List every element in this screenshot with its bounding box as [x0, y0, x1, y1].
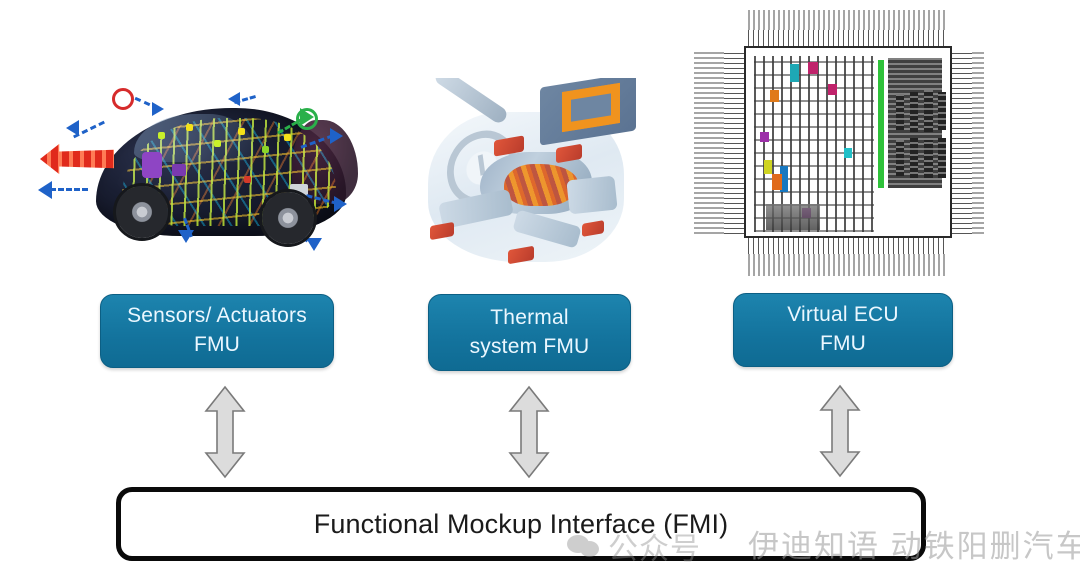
- blue-arrow-head: [306, 238, 322, 251]
- ecu-pin-block: [938, 92, 946, 130]
- car-front-wheel: [116, 186, 168, 238]
- ecu-accent-block: [790, 64, 799, 82]
- connector-arrow-ecu: [818, 384, 862, 478]
- ecu-accent-block: [770, 90, 779, 102]
- diagram-canvas: Sensors/ Actuators FMU Thermal system FM…: [0, 0, 1080, 585]
- green-arrow-head: [300, 108, 314, 126]
- pin-row-bottom: [748, 238, 948, 254]
- ecu-accent-block: [760, 132, 769, 142]
- connector-arrow-sensors: [203, 385, 247, 479]
- fmu-block-label-line1: Thermal: [490, 304, 568, 333]
- fmu-block-label-line2: FMU: [820, 330, 866, 359]
- ecu-accent-block: [772, 174, 782, 190]
- sensor-node: [158, 132, 165, 139]
- ecu-accent-block: [844, 148, 852, 158]
- pin-labels-left: [694, 52, 724, 234]
- blue-arrow-head: [152, 102, 164, 116]
- pin-labels-bottom: [748, 254, 948, 276]
- ecu-pin-block: [896, 94, 904, 130]
- ecu-bottom-module: [766, 204, 820, 230]
- ecu-green-bus: [878, 60, 884, 188]
- ecu-module-node: [172, 164, 186, 176]
- fmi-interface-label: Functional Mockup Interface (FMI): [314, 509, 728, 540]
- pin-labels-top: [748, 10, 948, 30]
- fmu-block-label-line1: Sensors/ Actuators: [127, 302, 307, 331]
- ecu-pin-block: [896, 140, 904, 176]
- blue-arrow-head: [38, 181, 52, 199]
- ecu-pin-block: [910, 92, 918, 132]
- ecu-pinout-illustration: [692, 6, 984, 278]
- ecu-accent-block: [808, 62, 818, 74]
- fmu-block-sensors-actuators[interactable]: Sensors/ Actuators FMU: [100, 294, 334, 368]
- sensor-node: [262, 146, 269, 153]
- fmu-block-virtual-ecu[interactable]: Virtual ECU FMU: [733, 293, 953, 367]
- sensor-node: [186, 124, 193, 131]
- sensor-node: [238, 128, 245, 135]
- blue-arrow-head: [178, 230, 194, 243]
- pin-row-right: [952, 52, 972, 234]
- ecu-chip-boundary: [744, 46, 952, 238]
- blue-arrow-head: [66, 120, 79, 136]
- sensor-node: [214, 140, 221, 147]
- ecu-accent-block: [764, 160, 772, 174]
- heat-exchanger: [540, 78, 636, 146]
- car-cutaway-illustration: [38, 80, 368, 280]
- front-module: [142, 152, 162, 178]
- blue-arrow-head: [334, 196, 347, 212]
- pin-row-top: [748, 30, 948, 46]
- fmu-block-label-line2: system FMU: [470, 333, 590, 362]
- blue-arrow-head: [228, 92, 240, 106]
- pin-labels-right: [972, 52, 984, 234]
- blue-arrow-head: [330, 128, 343, 144]
- fmu-block-label-line2: FMU: [194, 331, 240, 360]
- car-rear-wheel: [262, 192, 314, 244]
- ecu-pin-block: [938, 138, 946, 178]
- heat-exchanger-core: [562, 83, 620, 132]
- fmu-block-thermal-system[interactable]: Thermal system FMU: [428, 294, 631, 371]
- ecu-pin-block: [910, 138, 918, 178]
- sensor-node: [284, 134, 291, 141]
- connector-arrow-thermal: [507, 385, 551, 479]
- pin-row-left: [724, 52, 744, 234]
- ecu-pin-block: [924, 90, 933, 132]
- sensor-node: [244, 176, 251, 183]
- ecu-accent-block: [828, 84, 837, 95]
- blower-housing: [566, 176, 617, 215]
- ecu-pin-block: [924, 140, 933, 178]
- fmu-block-label-line1: Virtual ECU: [787, 301, 899, 330]
- thermal-system-illustration: [418, 78, 642, 280]
- antenna-signal-icon: [107, 83, 138, 114]
- fmi-interface-bar[interactable]: Functional Mockup Interface (FMI): [116, 487, 926, 561]
